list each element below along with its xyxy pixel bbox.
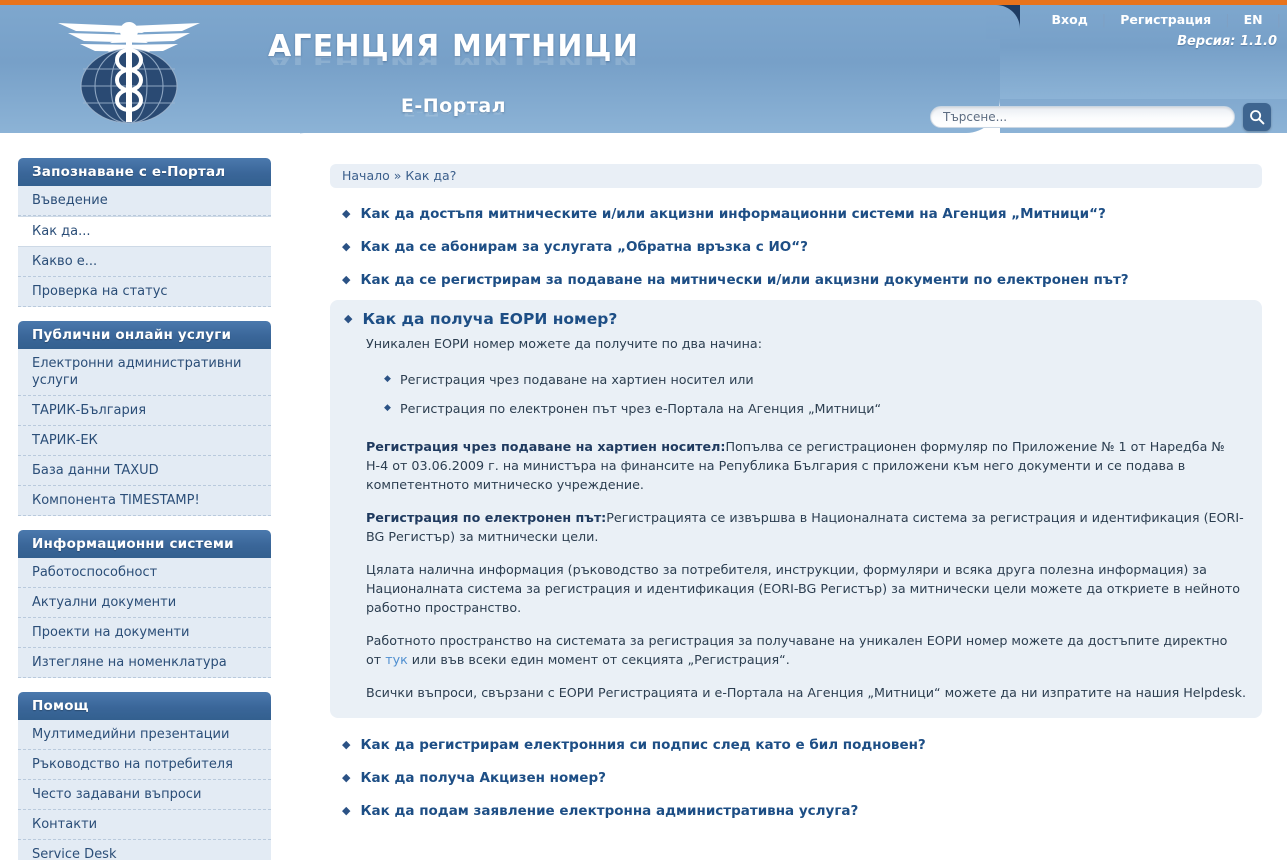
faq-question-link[interactable]: Как да достъпя митническите и/или акцизн… — [360, 205, 1105, 223]
sidebar-item[interactable]: Компонента TIMESTAMP! — [18, 486, 271, 516]
faq-expanded-title-link[interactable]: Как да получа ЕОРИ номер? — [362, 310, 617, 328]
sidebar-item[interactable]: Проекти на документи — [18, 618, 271, 648]
sidebar-item[interactable]: Изтегляне на номенклатура — [18, 648, 271, 678]
page-subtitle-reflection: Е-Портал — [268, 112, 639, 118]
faq-expanded-header: ◆Как да получа ЕОРИ номер? — [344, 310, 1246, 328]
faq-paper-registration: Регистрация чрез подаване на хартиен нос… — [366, 437, 1246, 494]
sidebar-item[interactable]: ТАРИК-България — [18, 396, 271, 426]
faq-question-row: ◆Как да регистрирам електронния си подпи… — [330, 728, 1262, 761]
sidebar-item[interactable]: Ръководство на потребителя — [18, 750, 271, 780]
faq-lead-text: Уникален ЕОРИ номер можете да получите п… — [366, 334, 1246, 353]
faq-paper-registration-label: Регистрация чрез подаване на хартиен нос… — [366, 439, 725, 454]
sidebar-item[interactable]: Въведение — [18, 186, 271, 216]
sidebar-item[interactable]: Проверка на статус — [18, 277, 271, 307]
faq-expanded-panel: ◆Как да получа ЕОРИ номер?Уникален ЕОРИ … — [330, 300, 1262, 718]
faq-workspace-paragraph: Работното пространство на системата за р… — [366, 631, 1246, 669]
sidebar-item[interactable]: База данни TAXUD — [18, 456, 271, 486]
main-content: Начало » Как да? ◆Как да достъпя митниче… — [300, 135, 1287, 860]
faq-electronic-registration: Регистрация по електронен път:Регистраци… — [366, 508, 1246, 546]
version-label: Версия: 1.1.0 — [1177, 34, 1277, 49]
sidebar-group: ПомощМултимедийни презентацииРъководство… — [18, 692, 271, 860]
diamond-bullet-icon: ◆ — [342, 736, 350, 754]
sidebar-group-title: Информационни системи — [18, 530, 271, 558]
page-title-reflection: АГЕНЦИЯ МИТНИЦИ — [268, 56, 639, 65]
faq-sublist: Регистрация чрез подаване на хартиен нос… — [366, 365, 1246, 423]
faq-question-link[interactable]: Как да регистрирам електронния си подпис… — [360, 736, 925, 754]
faq-question-link[interactable]: Как да се абонирам за услугата „Обратна … — [360, 238, 807, 256]
faq-question-row: ◆Как да получа Акцизен номер? — [330, 761, 1262, 794]
diamond-bullet-icon: ◆ — [342, 205, 350, 223]
sidebar-item[interactable]: ТАРИК-ЕК — [18, 426, 271, 456]
faq-question-link[interactable]: Как да получа Акцизен номер? — [360, 769, 605, 787]
topnav-separator: | — [1277, 13, 1281, 28]
page-root: Вход | Регистрация | EN | Версия: 1.1.0 — [0, 0, 1287, 860]
faq-sublist-item: Регистрация чрез подаване на хартиен нос… — [366, 365, 1246, 394]
faq-expanded-body: Уникален ЕОРИ номер можете да получите п… — [344, 334, 1246, 702]
header-title-block: АГЕНЦИЯ МИТНИЦИ АГЕНЦИЯ МИТНИЦИ Е-Портал… — [268, 30, 639, 129]
sidebar: Запознаване с е-ПорталВъведениеКак да...… — [18, 158, 271, 860]
breadcrumb: Начало » Как да? — [330, 164, 1262, 188]
sidebar-group: Информационни системиРаботоспособностАкт… — [18, 530, 271, 678]
sidebar-item[interactable]: Как да... — [18, 216, 271, 247]
sidebar-item[interactable]: Актуални документи — [18, 588, 271, 618]
sidebar-item[interactable]: Контакти — [18, 810, 271, 840]
sidebar-item[interactable]: Service Desk — [18, 840, 271, 860]
topnav-item-login[interactable]: Вход — [1038, 10, 1102, 30]
sidebar-group: Запознаване с е-ПорталВъведениеКак да...… — [18, 158, 271, 307]
sidebar-item[interactable]: Работоспособност — [18, 558, 271, 588]
faq-electronic-registration-label: Регистрация по електронен път: — [366, 510, 606, 525]
diamond-bullet-icon: ◆ — [342, 769, 350, 787]
faq-question-link[interactable]: Как да се регистрирам за подаване на мит… — [360, 271, 1128, 289]
topnav-item-lang-en[interactable]: EN — [1230, 10, 1277, 30]
search-button[interactable] — [1243, 103, 1271, 131]
sidebar-item[interactable]: Често задавани въпроси — [18, 780, 271, 810]
header-notch — [986, 5, 1020, 39]
faq-question-row: ◆Как да достъпя митническите и/или акциз… — [330, 197, 1262, 230]
sidebar-item[interactable]: Електронни административни услуги — [18, 349, 271, 396]
diamond-bullet-icon: ◆ — [342, 271, 350, 289]
caduceus-globe-wings-logo — [50, 14, 208, 126]
sidebar-group-title: Запознаване с е-Портал — [18, 158, 271, 186]
faq-sublist-item: Регистрация по електронен път чрез е-Пор… — [366, 394, 1246, 423]
sidebar-item[interactable]: Мултимедийни презентации — [18, 720, 271, 750]
faq-info-paragraph: Цялата налична информация (ръководство з… — [366, 560, 1246, 617]
faq-list: ◆Как да достъпя митническите и/или акциз… — [330, 197, 1262, 827]
sidebar-item[interactable]: Какво е... — [18, 247, 271, 277]
faq-question-row: ◆Как да подам заявление електронна админ… — [330, 794, 1262, 827]
diamond-bullet-icon: ◆ — [342, 802, 350, 820]
faq-helpdesk-paragraph: Всички въпроси, свързани с ЕОРИ Регистра… — [366, 683, 1246, 702]
faq-workspace-text-post: или във всеки един момент от секцията „Р… — [408, 652, 790, 667]
faq-question-row: ◆Как да се регистрирам за подаване на ми… — [330, 263, 1262, 296]
search-input[interactable] — [930, 106, 1235, 128]
top-navigation: Вход | Регистрация | EN | — [1038, 7, 1281, 33]
sidebar-group-title: Помощ — [18, 692, 271, 720]
diamond-bullet-icon: ◆ — [344, 310, 352, 328]
sidebar-group-title: Публични онлайн услуги — [18, 321, 271, 349]
faq-question-row: ◆Как да се абонирам за услугата „Обратна… — [330, 230, 1262, 263]
sidebar-group: Публични онлайн услугиЕлектронни админис… — [18, 321, 271, 516]
search-icon — [1249, 109, 1265, 125]
search-area — [930, 103, 1271, 131]
faq-question-link[interactable]: Как да подам заявление електронна админи… — [360, 802, 858, 820]
faq-here-link[interactable]: тук — [385, 652, 408, 667]
diamond-bullet-icon: ◆ — [342, 238, 350, 256]
topnav-item-register[interactable]: Регистрация — [1106, 10, 1225, 30]
